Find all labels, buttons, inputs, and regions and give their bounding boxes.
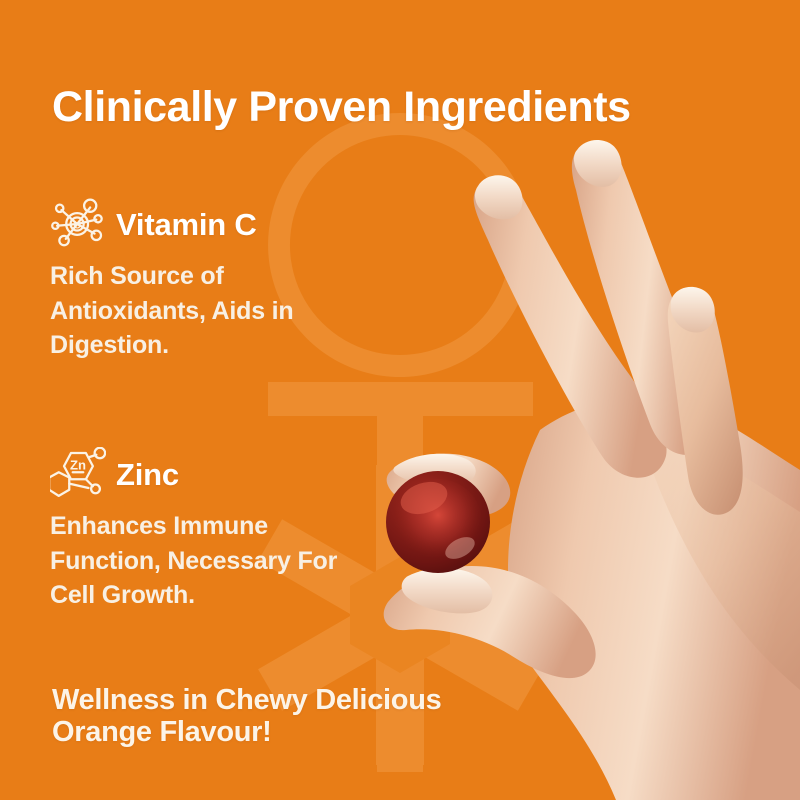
zinc-hexagon-molecule-icon: Zn [50, 447, 106, 501]
svg-text:Zn: Zn [70, 458, 86, 473]
index-fingertip [387, 454, 511, 518]
vitamin-c-molecule-icon: C [50, 197, 106, 251]
gummy-candy [386, 471, 490, 573]
feature-vitamin-c-header: C Vitamin C [50, 196, 390, 252]
palm [508, 398, 800, 800]
index-fingertip-nail [393, 454, 475, 486]
feature-vitamin-c: C Vitamin C Rich Source of Antioxidants,… [50, 196, 390, 388]
feature-zinc-title: Zinc [116, 459, 179, 490]
page-title: Clinically Proven Ingredients [52, 85, 631, 130]
feature-zinc-header: Zn Zinc [50, 446, 390, 502]
feature-zinc: Zn Zinc Enhances Immune Function, Necess… [50, 446, 390, 638]
middle-fingernail [574, 140, 622, 187]
thumbnail [402, 568, 493, 613]
index-finger [474, 179, 667, 478]
thumb [384, 566, 596, 678]
index-fingernail [475, 175, 523, 219]
hand-shading [638, 430, 800, 690]
feature-vitamin-c-description: Rich Source of Antioxidants, Aids in Dig… [50, 259, 350, 363]
tagline: Wellness in Chewy Delicious Orange Flavo… [52, 684, 482, 749]
ring-fingernail [671, 287, 715, 333]
gummy-rim-highlight [442, 533, 479, 564]
svg-text:C: C [74, 220, 81, 231]
feature-vitamin-c-title: Vitamin C [116, 209, 257, 240]
feature-zinc-description: Enhances Immune Function, Necessary For … [50, 509, 362, 613]
ring-finger [668, 289, 743, 515]
middle-finger [572, 142, 713, 455]
promo-banner: Clinically Proven Ingredients [0, 0, 800, 800]
gummy-specular-highlight [397, 476, 452, 519]
